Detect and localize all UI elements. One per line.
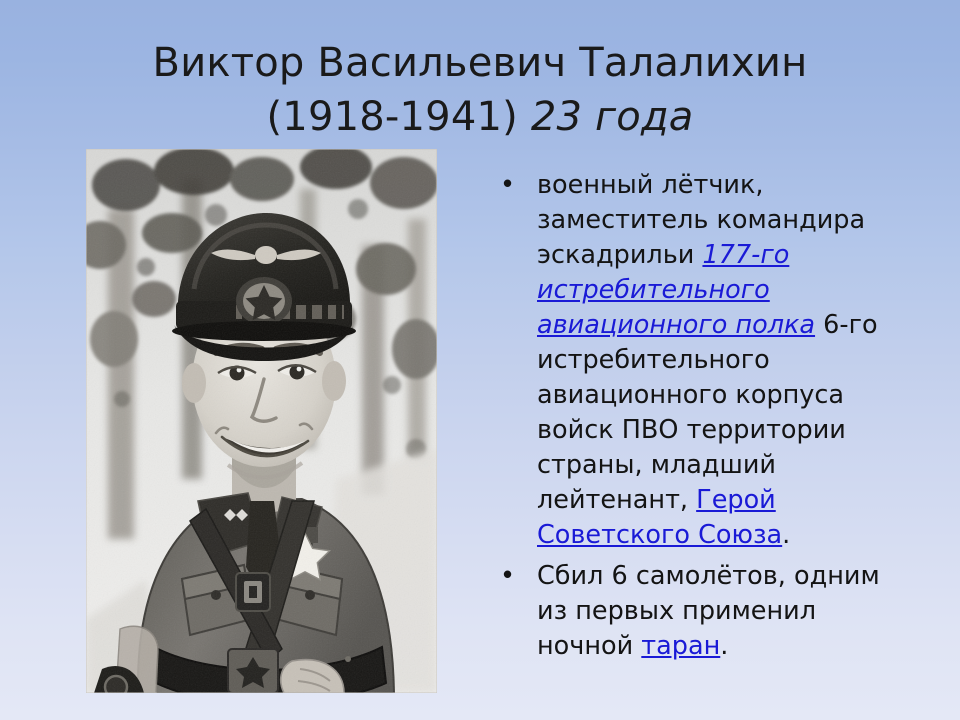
text-segment: . [782,520,790,550]
bullet-marker-icon: • [500,168,515,203]
text-segment: . [720,631,728,661]
title-dates-text: (1918-1941) [266,94,530,140]
link-taran[interactable]: таран [641,631,720,661]
list-item-text: военный лётчик, заместитель командира эс… [537,168,892,553]
list-item: • Сбил 6 самолётов, одним из первых прим… [492,559,892,664]
portrait-photo-graphic [86,149,437,693]
portrait-photo [86,149,437,693]
slide: Виктор Васильевич Талалихин (1918-1941) … [0,0,960,720]
bullet-marker-icon: • [500,559,515,594]
content-text-block: • военный лётчик, заместитель командира … [492,168,892,670]
list-item: • военный лётчик, заместитель командира … [492,168,892,553]
title-line-name: Виктор Васильевич Талалихин [0,36,960,90]
title-age-text: 23 года [531,94,694,140]
page-title: Виктор Васильевич Талалихин (1918-1941) … [0,36,960,144]
title-line-dates: (1918-1941) 23 года [0,90,960,144]
list-item-text: Сбил 6 самолётов, одним из первых примен… [537,559,892,664]
